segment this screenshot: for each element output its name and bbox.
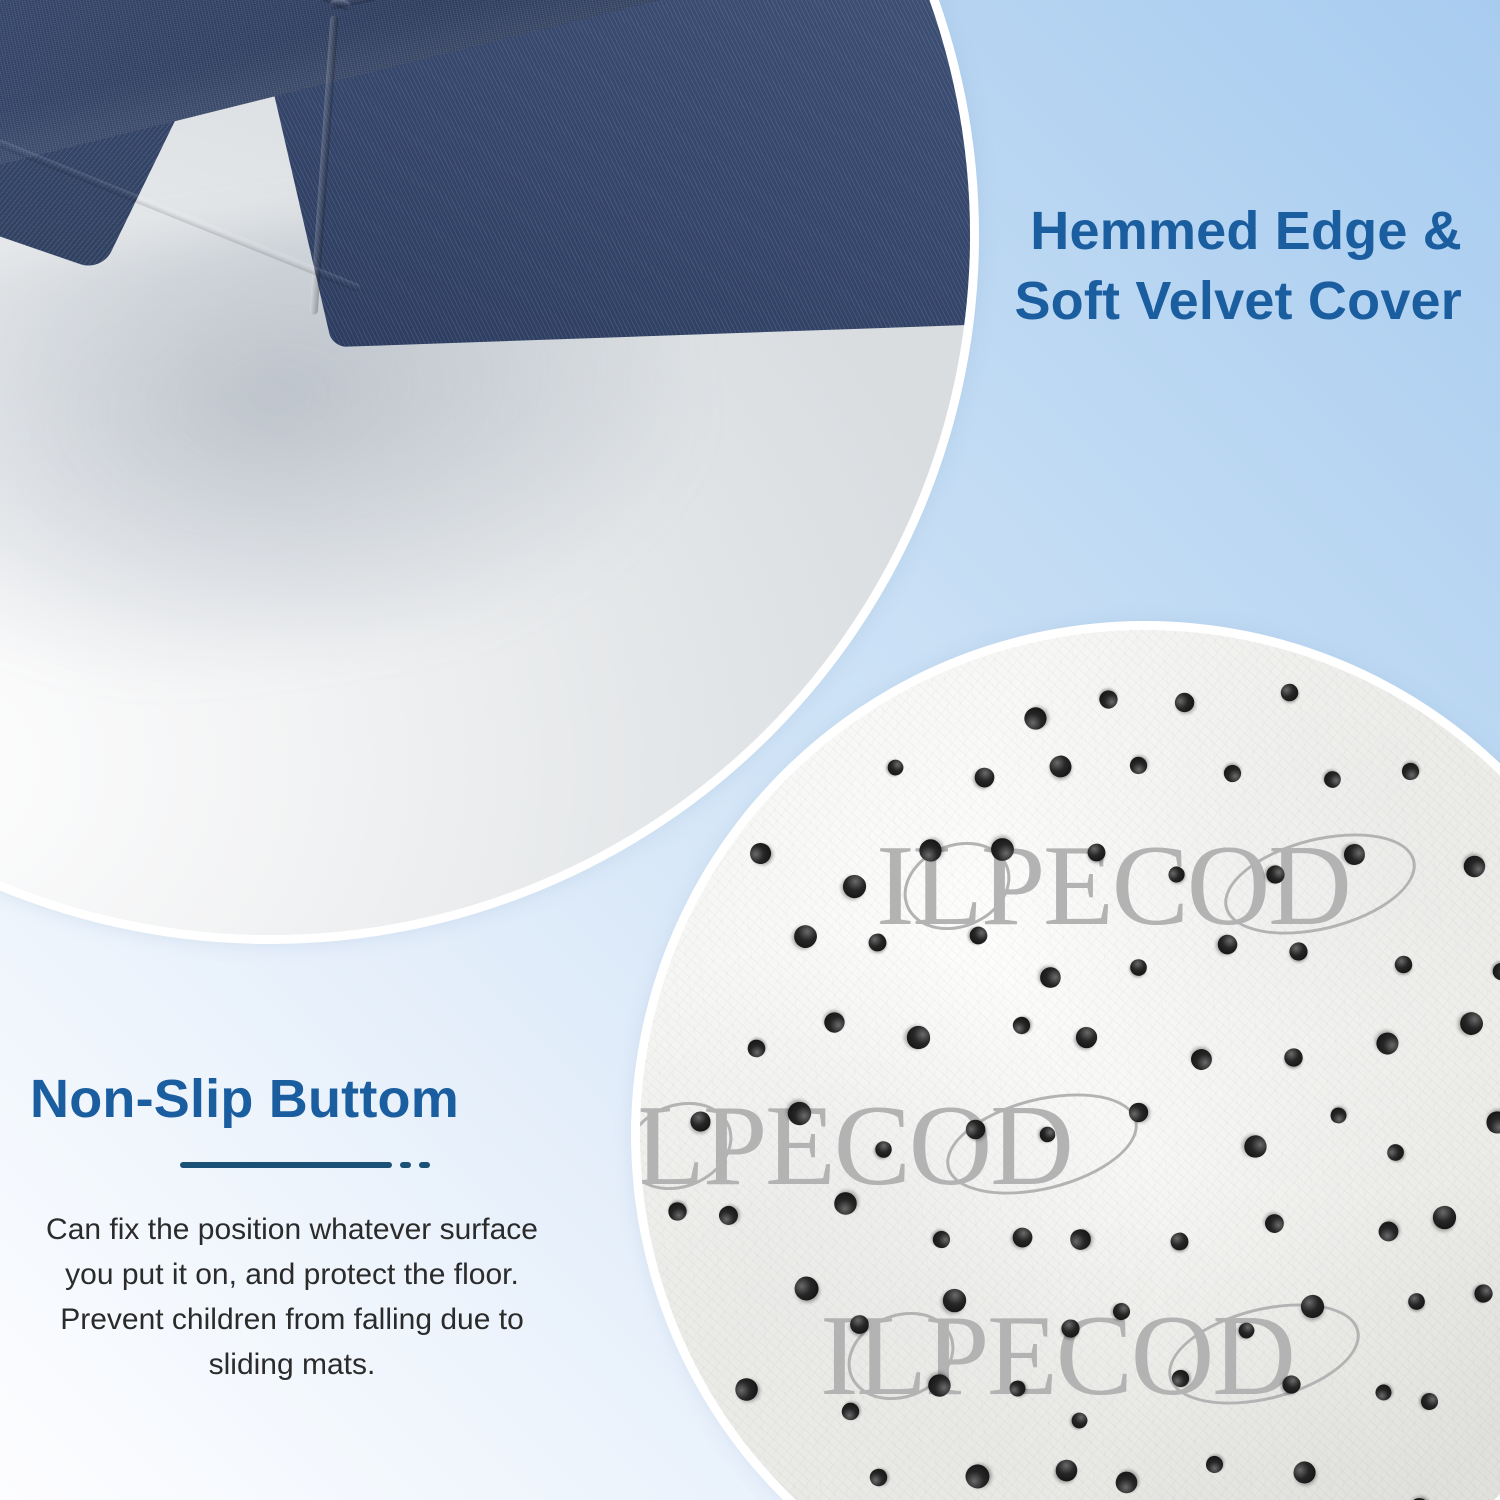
hemmed-edge-heading: Hemmed Edge & Soft Velvet Cover [1014, 196, 1462, 336]
divider-dash [400, 1162, 411, 1168]
body-line: Can fix the position whatever surface [46, 1213, 538, 1246]
non-slip-dot [1289, 942, 1308, 961]
non-slip-mat-photo: ILPECOD ILPECOD ILPECOD [640, 630, 1500, 1500]
heading-line-2: Soft Velvet Cover [1014, 266, 1462, 336]
brand-watermark: ILPECOD [820, 1290, 1294, 1423]
non-slip-body-text: Can fix the position whatever surface yo… [14, 1207, 570, 1387]
heading-line-1: Hemmed Edge & [1014, 196, 1462, 266]
non-slip-text-block: Non-Slip Buttom Can fix the position wha… [14, 1070, 570, 1387]
brand-watermark: ILPECOD [876, 820, 1350, 953]
non-slip-heading: Non-Slip Buttom [30, 1070, 570, 1129]
non-slip-dot [906, 1025, 931, 1050]
brand-watermark: ILPECOD [640, 1080, 1072, 1213]
body-line: sliding mats. [209, 1348, 376, 1381]
body-line: Prevent children from falling due to [60, 1303, 524, 1336]
body-line: you put it on, and protect the floor. [65, 1258, 519, 1291]
non-slip-dot [1171, 1369, 1189, 1387]
non-slip-photo-circle: ILPECOD ILPECOD ILPECOD [640, 630, 1500, 1500]
velvet-cushion [0, 0, 800, 545]
divider-bar [180, 1162, 392, 1168]
non-slip-dot [1408, 1293, 1425, 1310]
divider [30, 1153, 570, 1177]
product-infographic: ILPECOD ILPECOD ILPECOD Hemmed Edge & So… [0, 0, 1500, 1500]
divider-dash [419, 1162, 430, 1168]
